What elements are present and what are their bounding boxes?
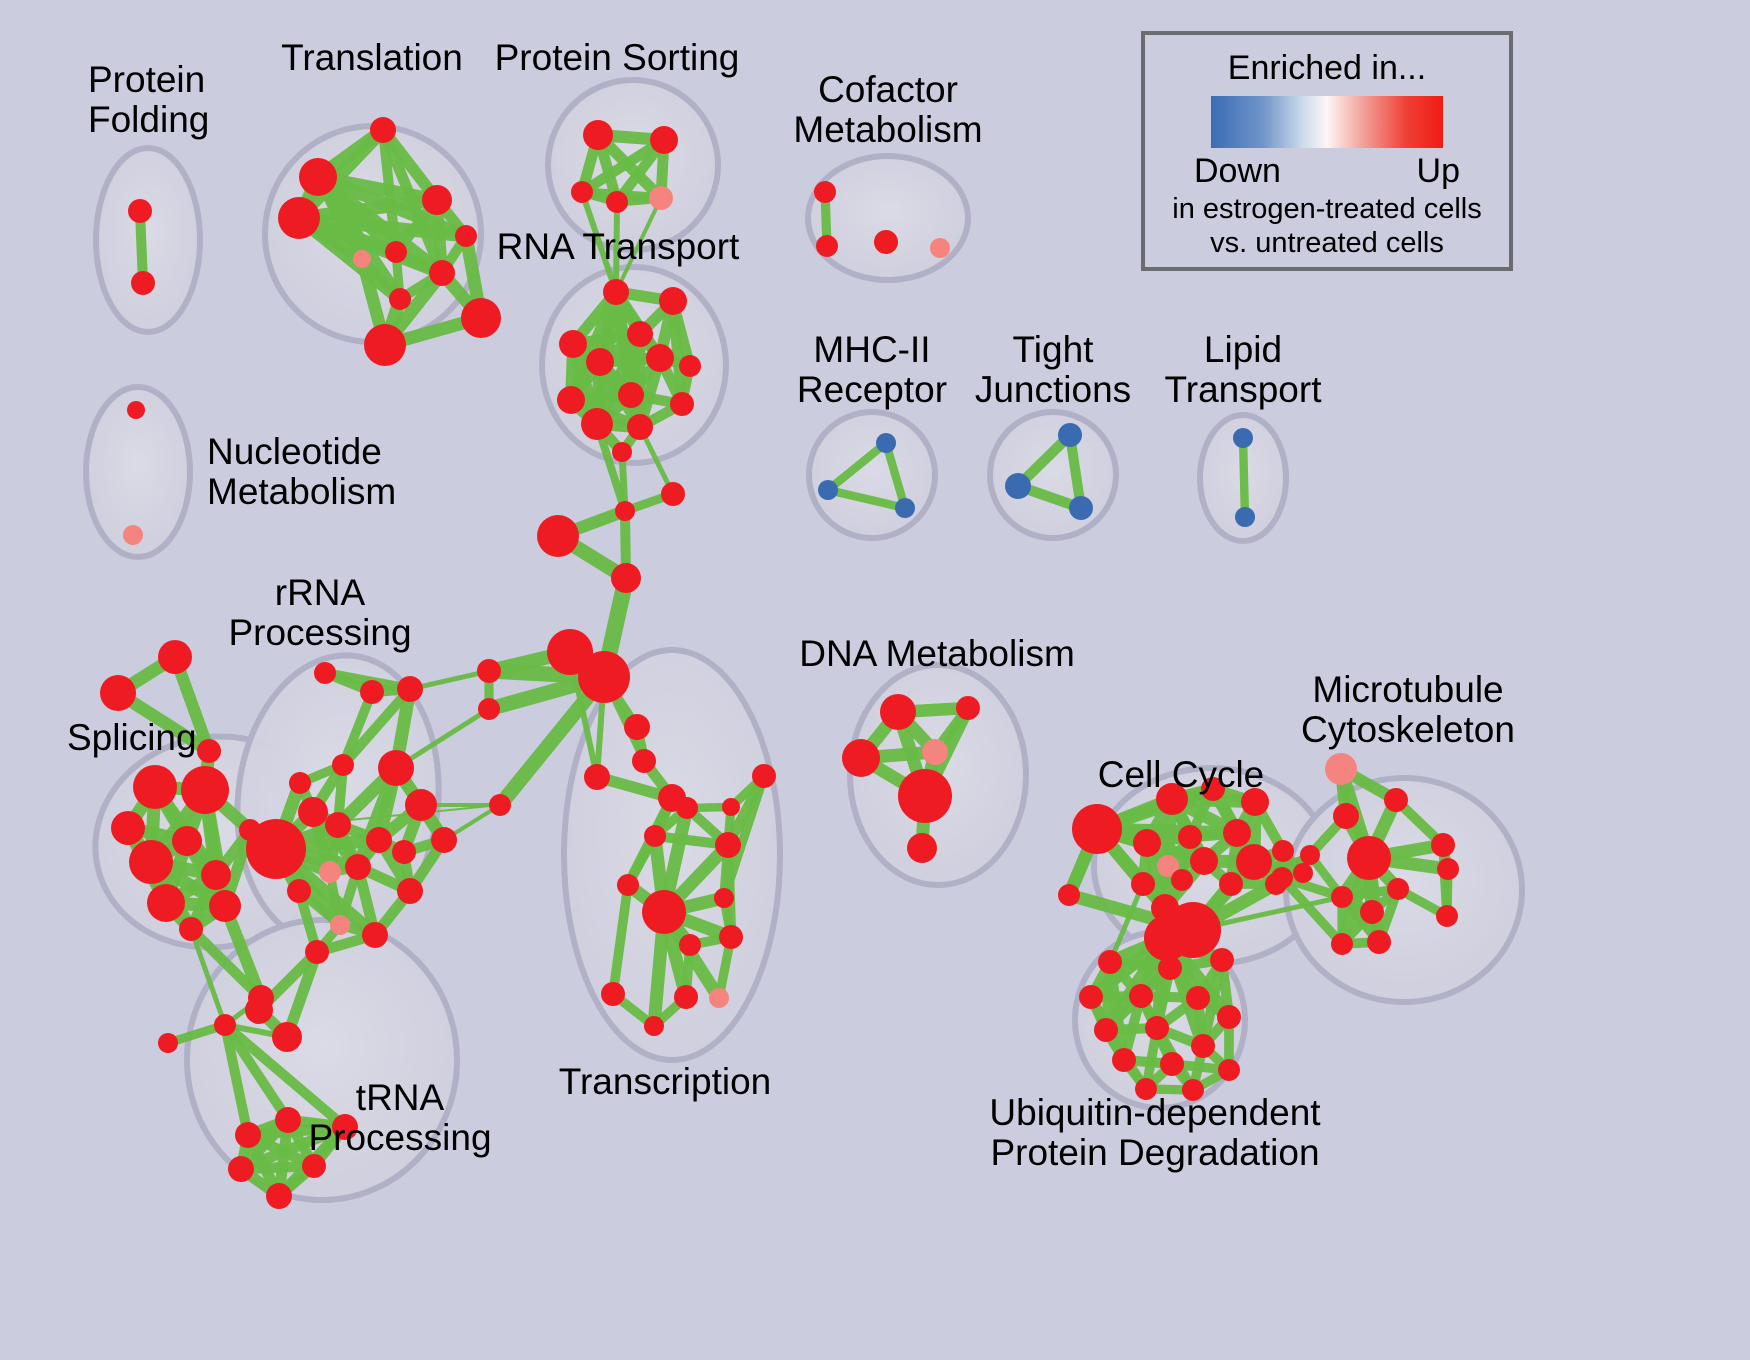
network-node[interactable]: [325, 812, 351, 838]
network-node[interactable]: [360, 680, 384, 704]
network-node[interactable]: [559, 330, 587, 358]
network-node[interactable]: [583, 120, 613, 150]
cluster-label-dna-metabolism: DNA Metabolism: [799, 634, 1075, 674]
network-node[interactable]: [289, 772, 311, 794]
cluster-label-tight-junctions: Tight Junctions: [975, 330, 1131, 410]
network-node[interactable]: [722, 798, 740, 816]
network-node[interactable]: [422, 185, 452, 215]
network-node[interactable]: [649, 186, 673, 210]
network-node[interactable]: [898, 769, 952, 823]
network-node[interactable]: [876, 433, 896, 453]
network-node[interactable]: [816, 235, 838, 257]
network-node[interactable]: [1094, 1018, 1118, 1042]
network-node[interactable]: [1271, 867, 1293, 889]
network-node[interactable]: [581, 408, 613, 440]
network-node[interactable]: [1158, 956, 1182, 980]
network-node[interactable]: [1331, 886, 1353, 908]
network-node[interactable]: [1144, 915, 1190, 961]
network-node[interactable]: [131, 271, 155, 295]
network-node[interactable]: [158, 1033, 178, 1053]
network-node[interactable]: [1387, 878, 1409, 900]
network-node[interactable]: [299, 158, 337, 196]
network-node[interactable]: [127, 401, 145, 419]
cluster-label-protein-sorting: Protein Sorting: [495, 38, 740, 78]
cluster-label-cofactor-metabolism: Cofactor Metabolism: [793, 70, 982, 150]
network-node[interactable]: [907, 833, 937, 863]
cluster-hull: [96, 148, 200, 332]
network-node[interactable]: [606, 191, 628, 213]
legend-panel: Enriched in... Down Up in estrogen-treat…: [1141, 31, 1513, 271]
network-node[interactable]: [714, 888, 734, 908]
network-node[interactable]: [676, 797, 698, 819]
network-node[interactable]: [674, 985, 698, 1009]
cluster-label-microtubule-cytoskeleton: Microtubule Cytoskeleton: [1301, 670, 1515, 750]
network-node[interactable]: [147, 884, 185, 922]
network-node[interactable]: [287, 879, 311, 903]
network-node[interactable]: [618, 382, 644, 408]
network-node[interactable]: [455, 225, 477, 247]
network-node[interactable]: [1233, 428, 1253, 448]
legend-up-label: Up: [1417, 152, 1460, 191]
network-node[interactable]: [650, 126, 678, 154]
network-node[interactable]: [1178, 825, 1202, 849]
network-node[interactable]: [1360, 900, 1384, 924]
network-node[interactable]: [245, 996, 273, 1024]
network-node[interactable]: [644, 825, 666, 847]
network-node[interactable]: [489, 794, 511, 816]
network-node[interactable]: [612, 442, 632, 462]
cluster-label-trna-processing: tRNA Processing: [308, 1078, 491, 1158]
legend-endpoint-labels: Down Up: [1194, 152, 1460, 191]
network-node[interactable]: [624, 714, 650, 740]
network-node[interactable]: [1223, 819, 1251, 847]
network-node[interactable]: [1129, 984, 1153, 1008]
cluster-hull: [809, 412, 935, 538]
network-node[interactable]: [1058, 423, 1082, 447]
network-node[interactable]: [272, 1022, 302, 1052]
network-node[interactable]: [1210, 948, 1234, 972]
network-node[interactable]: [370, 117, 396, 143]
network-node[interactable]: [880, 694, 916, 730]
network-node[interactable]: [670, 392, 694, 416]
network-node[interactable]: [1079, 985, 1103, 1009]
network-node[interactable]: [246, 819, 306, 879]
network-node[interactable]: [172, 826, 202, 856]
network-node[interactable]: [571, 181, 593, 203]
network-node[interactable]: [659, 287, 687, 315]
network-node[interactable]: [1437, 858, 1459, 880]
network-node[interactable]: [181, 766, 229, 814]
network-node[interactable]: [366, 827, 392, 853]
network-node[interactable]: [332, 754, 354, 776]
cluster-label-cell-cycle: Cell Cycle: [1098, 755, 1265, 795]
network-node[interactable]: [405, 789, 437, 821]
network-node[interactable]: [1112, 1048, 1136, 1072]
network-node[interactable]: [477, 659, 501, 683]
network-node[interactable]: [1219, 872, 1243, 896]
network-node[interactable]: [431, 827, 457, 853]
network-node[interactable]: [752, 764, 776, 788]
network-node[interactable]: [611, 563, 641, 593]
cluster-label-translation: Translation: [281, 38, 463, 78]
network-node[interactable]: [179, 917, 203, 941]
network-node[interactable]: [1171, 869, 1193, 891]
network-node[interactable]: [1325, 753, 1357, 785]
network-node[interactable]: [266, 1183, 292, 1209]
network-node[interactable]: [1186, 986, 1210, 1010]
network-node[interactable]: [1131, 872, 1155, 896]
figure-canvas: Protein FoldingTranslationProtein Sortin…: [0, 0, 1750, 1360]
network-node[interactable]: [818, 480, 838, 500]
network-node[interactable]: [874, 230, 898, 254]
network-node[interactable]: [603, 279, 629, 305]
network-node[interactable]: [661, 482, 685, 506]
cluster-label-nucleotide-metabolism: Nucleotide Metabolism: [207, 432, 396, 512]
legend-title: Enriched in...: [1228, 49, 1426, 88]
network-node[interactable]: [1190, 847, 1218, 875]
network-edge: [1243, 438, 1245, 517]
network-node[interactable]: [586, 348, 614, 376]
network-node[interactable]: [537, 515, 579, 557]
network-node[interactable]: [615, 501, 635, 521]
network-node[interactable]: [1098, 950, 1122, 974]
network-node[interactable]: [632, 749, 656, 773]
network-node[interactable]: [895, 498, 915, 518]
cluster-label-lipid-transport: Lipid Transport: [1165, 330, 1322, 410]
network-node[interactable]: [235, 1122, 261, 1148]
network-node[interactable]: [709, 988, 729, 1008]
network-node[interactable]: [1431, 833, 1455, 857]
network-node[interactable]: [1236, 844, 1272, 880]
network-node[interactable]: [617, 874, 639, 896]
network-node[interactable]: [1058, 884, 1080, 906]
network-node[interactable]: [557, 386, 585, 414]
cluster-label-rrna-processing: rRNA Processing: [228, 573, 411, 653]
network-node[interactable]: [814, 181, 836, 203]
network-node[interactable]: [364, 324, 406, 366]
network-node[interactable]: [201, 860, 231, 890]
network-node[interactable]: [1300, 845, 1320, 865]
cluster-hull: [808, 156, 968, 280]
network-node[interactable]: [601, 982, 625, 1006]
network-node[interactable]: [679, 355, 701, 377]
network-node[interactable]: [1235, 507, 1255, 527]
network-node[interactable]: [584, 764, 610, 790]
cluster-label-splicing: Splicing: [67, 718, 197, 758]
network-node[interactable]: [930, 238, 950, 258]
network-node[interactable]: [209, 890, 241, 922]
network-node[interactable]: [378, 750, 414, 786]
network-node[interactable]: [298, 797, 328, 827]
network-node[interactable]: [1367, 930, 1391, 954]
legend-color-gradient-bar: [1211, 96, 1443, 148]
network-node[interactable]: [1293, 863, 1313, 883]
network-node[interactable]: [842, 739, 880, 777]
cluster-hull: [990, 412, 1116, 538]
network-node[interactable]: [646, 344, 674, 372]
cluster-label-rna-transport: RNA Transport: [497, 227, 740, 267]
network-node[interactable]: [1005, 473, 1031, 499]
network-node[interactable]: [1333, 803, 1359, 829]
network-node[interactable]: [1191, 1034, 1215, 1058]
network-node[interactable]: [133, 765, 177, 809]
network-node[interactable]: [1160, 1052, 1184, 1076]
network-node[interactable]: [197, 739, 221, 763]
network-node[interactable]: [385, 241, 407, 263]
network-node[interactable]: [1145, 1016, 1169, 1040]
network-node[interactable]: [627, 414, 653, 440]
cluster-label-protein-folding: Protein Folding: [88, 60, 209, 140]
network-node[interactable]: [362, 922, 388, 948]
network-node[interactable]: [1133, 829, 1161, 857]
network-node[interactable]: [228, 1156, 254, 1182]
network-node[interactable]: [922, 739, 948, 765]
network-node[interactable]: [679, 934, 701, 956]
network-node[interactable]: [214, 1014, 236, 1036]
network-node[interactable]: [1436, 905, 1458, 927]
network-node[interactable]: [314, 662, 336, 684]
network-node[interactable]: [278, 197, 320, 239]
network-node[interactable]: [305, 940, 329, 964]
network-node[interactable]: [627, 321, 653, 347]
network-node[interactable]: [1384, 788, 1408, 812]
network-node[interactable]: [642, 890, 686, 934]
network-node[interactable]: [719, 925, 743, 949]
network-node[interactable]: [158, 640, 192, 674]
network-node[interactable]: [111, 811, 145, 845]
network-node[interactable]: [1218, 1059, 1240, 1081]
network-node[interactable]: [392, 840, 416, 864]
cluster-label-mhc-ii-receptor: MHC-II Receptor: [797, 330, 947, 410]
network-node[interactable]: [956, 696, 980, 720]
network-node[interactable]: [429, 260, 455, 286]
network-node[interactable]: [644, 1016, 664, 1036]
network-node[interactable]: [1347, 836, 1391, 880]
legend-subtitle-line1: in estrogen-treated cells: [1172, 193, 1482, 225]
cluster-label-transcription: Transcription: [559, 1062, 771, 1102]
network-node[interactable]: [275, 1107, 301, 1133]
network-node[interactable]: [478, 698, 500, 720]
cluster-label-ubiquitin-protein-degradation: Ubiquitin-dependent Protein Degradation: [989, 1093, 1320, 1173]
network-node[interactable]: [715, 832, 741, 858]
network-node[interactable]: [1331, 933, 1353, 955]
network-node[interactable]: [1217, 1005, 1241, 1029]
network-node[interactable]: [397, 676, 423, 702]
legend-subtitle-line2: vs. untreated cells: [1210, 227, 1444, 259]
network-node[interactable]: [353, 250, 371, 268]
network-node[interactable]: [389, 288, 411, 310]
network-node[interactable]: [345, 854, 371, 880]
network-node[interactable]: [128, 199, 152, 223]
network-node[interactable]: [578, 651, 630, 703]
network-node[interactable]: [319, 861, 341, 883]
network-node[interactable]: [1272, 840, 1294, 862]
network-node[interactable]: [123, 525, 143, 545]
network-node[interactable]: [397, 878, 423, 904]
network-node[interactable]: [100, 675, 136, 711]
network-node[interactable]: [129, 840, 173, 884]
network-node[interactable]: [1069, 496, 1093, 520]
network-node[interactable]: [1072, 804, 1122, 854]
network-node[interactable]: [330, 915, 350, 935]
network-node[interactable]: [461, 298, 501, 338]
legend-down-label: Down: [1194, 152, 1281, 191]
